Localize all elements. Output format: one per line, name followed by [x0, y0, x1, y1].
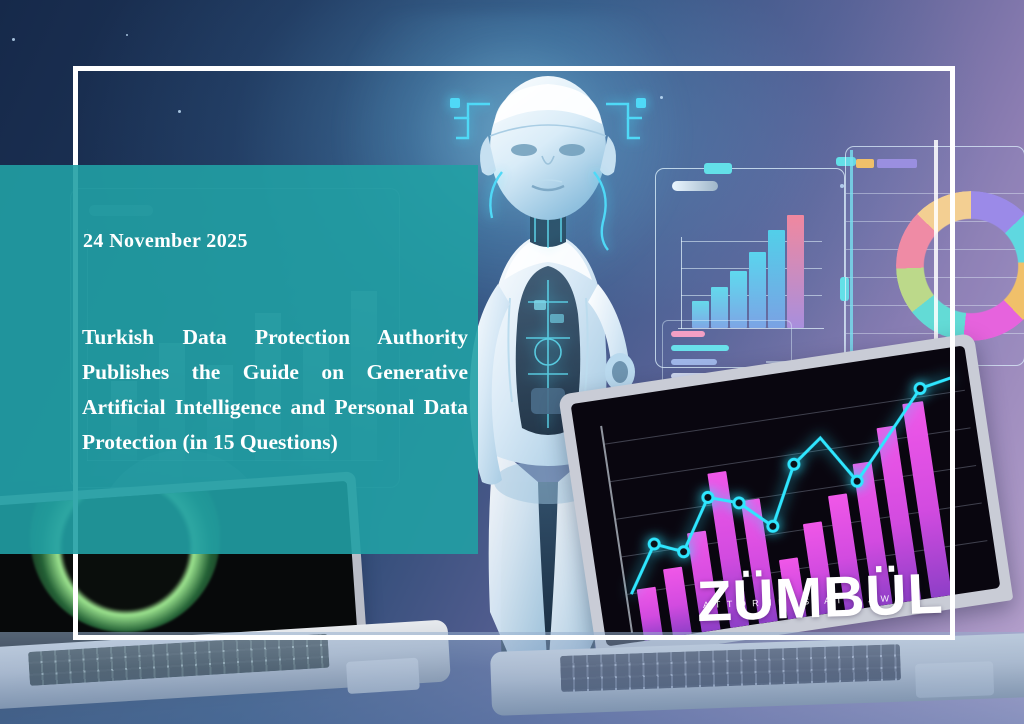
legend-chip	[856, 159, 874, 168]
speck-dot	[126, 34, 128, 36]
speck-dot	[178, 110, 181, 113]
legend-chip	[877, 159, 917, 168]
card-tab-icon	[704, 163, 732, 174]
chart-bar	[787, 215, 804, 328]
chart-bar	[768, 230, 785, 328]
donut-chart	[896, 191, 1024, 341]
desk-reflection	[0, 632, 1024, 724]
light-beam	[934, 140, 938, 370]
page-title: Turkish Data Protection Authority Publis…	[82, 320, 468, 460]
publish-date: 24 November 2025	[83, 230, 463, 253]
chart-bar	[749, 252, 766, 328]
light-beam	[850, 150, 853, 365]
banner-canvas: 24 November 2025 Turkish Data Protection…	[0, 0, 1024, 724]
brand-logo[interactable]: ZÜMBÜL ATTORNEYS AT LAW	[696, 556, 939, 646]
speck-dot	[12, 38, 15, 41]
